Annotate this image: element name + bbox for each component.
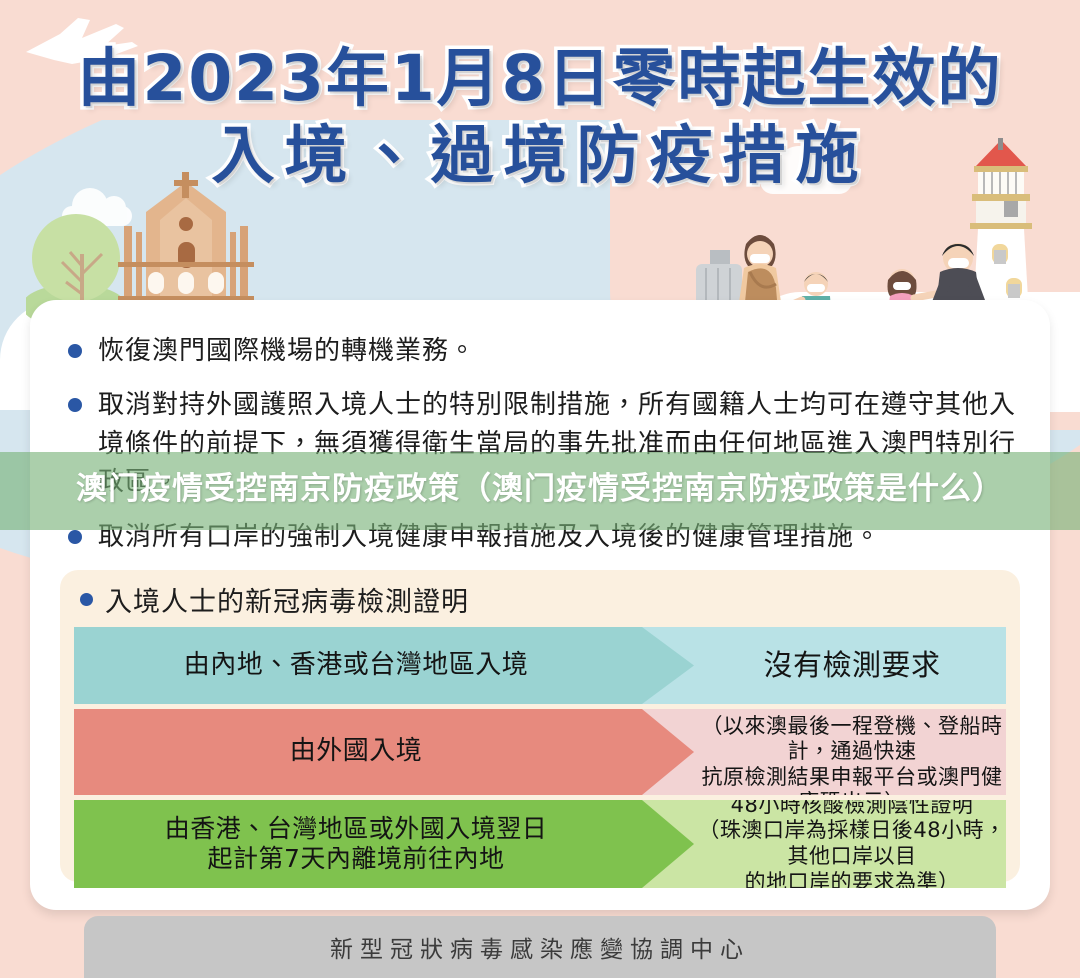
bullet-dot-icon bbox=[68, 344, 82, 358]
footer-bar: 新型冠狀病毒感染應變協調中心 bbox=[84, 916, 996, 978]
row-origin-cell: 由香港、台灣地區或外國入境翌日 起計第7天內離境前往內地 bbox=[74, 800, 694, 888]
bullet-dot-icon bbox=[80, 593, 93, 606]
testing-requirements-panel: 入境人士的新冠病毒檢測證明 由內地、香港或台灣地區入境 沒有檢測要求 由外國入境 bbox=[60, 570, 1020, 882]
row-requirement-line: 抗原檢測結果申報平台或澳門健康碼出示） bbox=[698, 765, 1006, 795]
row-origin-line: 由香港、台灣地區或外國入境翌日 bbox=[165, 814, 548, 845]
row-origin-cell: 由內地、香港或台灣地區入境 bbox=[74, 627, 694, 704]
cloud-icon bbox=[760, 168, 852, 194]
overlay-watermark-banner: 澳门疫情受控南京防疫政策（澳门疫情受控南京防疫政策是什么） bbox=[0, 452, 1080, 530]
bullet-text-1: 恢復澳門國際機場的轉機業務。 bbox=[98, 332, 476, 370]
bullet-dot-icon bbox=[68, 398, 82, 412]
row-requirement-line: 的地口岸的要求為準） bbox=[745, 870, 960, 888]
row-origin-text: 由內地、香港或台灣地區入境 bbox=[184, 650, 529, 682]
row-origin-line: 起計第7天內離境前往內地 bbox=[165, 844, 548, 875]
panel-heading-text: 入境人士的新冠病毒檢測證明 bbox=[105, 580, 469, 619]
row-origin-cell: 由外國入境 bbox=[74, 709, 694, 795]
row-requirement-line: 48小時核酸檢測陰性證明 bbox=[731, 800, 974, 818]
row-origin-text: 由外國入境 bbox=[290, 736, 423, 768]
poster-canvas: 由2023年1月8日零時起生效的 入境、過境防疫措施 恢復澳門國際機場的轉機業務… bbox=[0, 0, 1080, 978]
table-row: 由外國入境 48小時抗原或核酸檢測陰性證明 （以來澳最後一程登機、登船時計，通過… bbox=[74, 709, 1006, 795]
bullet-dot-icon bbox=[68, 530, 82, 544]
table-row: 由內地、香港或台灣地區入境 沒有檢測要求 bbox=[74, 627, 1006, 704]
row-requirement-line: 沒有檢測要求 bbox=[763, 648, 940, 683]
list-item: 恢復澳門國際機場的轉機業務。 bbox=[56, 332, 1024, 370]
overlay-watermark-text: 澳门疫情受控南京防疫政策（澳门疫情受控南京防疫政策是什么） bbox=[76, 470, 1004, 509]
airplane-icon bbox=[20, 12, 160, 72]
footer-text: 新型冠狀病毒感染應變協調中心 bbox=[330, 930, 750, 964]
row-requirement-line: （珠澳口岸為採樣日後48小時，其他口岸以目 bbox=[698, 818, 1006, 869]
table-row: 由香港、台灣地區或外國入境翌日 起計第7天內離境前往內地 48小時核酸檢測陰性證… bbox=[74, 800, 1006, 888]
panel-heading: 入境人士的新冠病毒檢測證明 bbox=[76, 580, 1006, 619]
requirements-table: 由內地、香港或台灣地區入境 沒有檢測要求 由外國入境 48小時抗原或核酸檢測陰性… bbox=[74, 627, 1006, 888]
content-card: 恢復澳門國際機場的轉機業務。 取消對持外國護照入境人士的特別限制措施，所有國籍人… bbox=[30, 300, 1050, 910]
row-requirement-line: （以來澳最後一程登機、登船時計，通過快速 bbox=[698, 714, 1006, 765]
